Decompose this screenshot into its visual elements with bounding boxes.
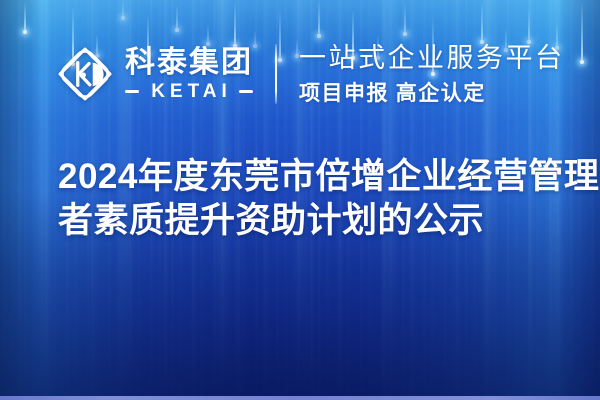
bottom-accent-rule [0,396,600,400]
headline-block: 2024年度东莞市倍增企业经营管理 者素质提升资助计划的公示 [58,155,578,243]
headline-line-1: 2024年度东莞市倍增企业经营管理 [58,155,578,199]
brand-dash-right-icon [239,90,253,93]
brand-wordmark: 科泰集团 KETAI [125,47,253,101]
brand-name-en-row: KETAI [125,82,253,101]
banner-header: 科泰集团 KETAI 一站式企业服务平台 项目申报 高企认定 [0,36,600,112]
slogan-block: 一站式企业服务平台 项目申报 高企认定 [299,43,565,105]
brand-dash-left-icon [125,90,139,93]
brand-name-en: KETAI [146,82,232,101]
brand-lockup: 科泰集团 KETAI [56,45,253,103]
ketai-diamond-monogram-icon [56,45,114,103]
slogan-primary: 一站式企业服务平台 [299,43,565,74]
promo-banner: 科泰集团 KETAI 一站式企业服务平台 项目申报 高企认定 2024年度东莞市… [0,0,600,400]
headline-line-2: 者素质提升资助计划的公示 [58,199,578,243]
slogan-secondary: 项目申报 高企认定 [299,81,565,105]
brand-name-cn: 科泰集团 [125,47,253,78]
header-divider [275,44,277,104]
